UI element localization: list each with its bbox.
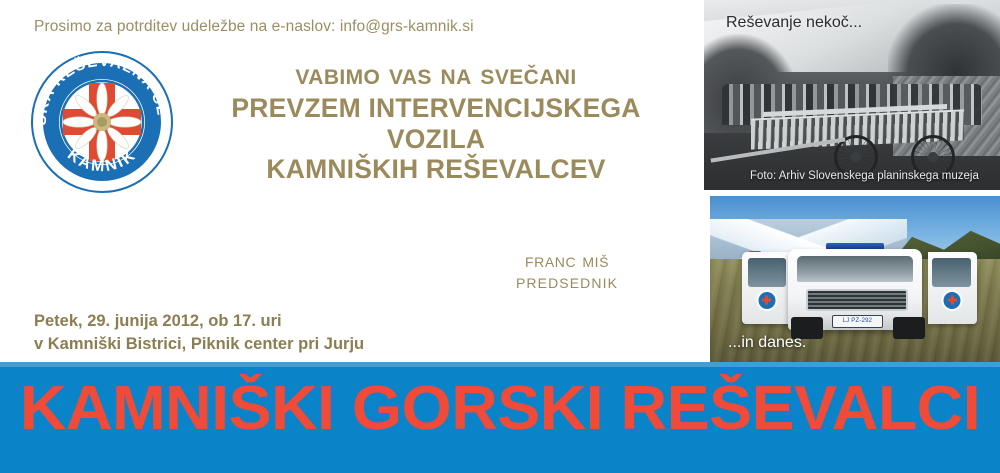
vehicle-grille <box>806 289 909 311</box>
vehicle-wheel <box>893 317 925 339</box>
grs-door-badge-icon <box>942 290 963 311</box>
signature-role: PREDSEDNIK <box>452 275 682 291</box>
grs-door-badge-icon <box>756 290 777 311</box>
historic-photo-credit: Foto: Arhiv Slovenskega planinskega muze… <box>750 170 979 182</box>
vehicle-left-door-window <box>748 258 786 287</box>
grs-kamnik-logo: GORSKA REŠEVALNA SLUŽBA KAMNIK <box>27 47 177 197</box>
signature-block: Franc Miš PREDSEDNIK <box>452 250 682 291</box>
vehicle-right-door <box>928 252 977 323</box>
headline-line-1: Vabimo Vas na Svečani <box>186 58 686 93</box>
invitation-content-area: Prosimo za potrditev udeležbe na e-naslo… <box>0 0 704 362</box>
event-location: v Kamniški Bistrici, Piknik center pri J… <box>34 333 364 356</box>
bottom-banner: KAMNIŠKI GORSKI REŠEVALCI <box>0 362 1000 473</box>
historic-rescue-photo: Reševanje nekoč... Foto: Arhiv Slovenske… <box>704 0 1000 190</box>
rsvp-line: Prosimo za potrditev udeležbe na e-naslo… <box>34 18 474 36</box>
vehicle-license-plate: LJ PZ-292 <box>832 315 883 329</box>
vehicle-left-door <box>742 252 791 323</box>
invitation-poster: Prosimo za potrditev udeležbe na e-naslo… <box>0 0 1000 473</box>
headline-line-2: PREVZEM INTERVENCIJSKEGA <box>186 93 686 124</box>
event-date-time: Petek, 29. junija 2012, ob 17. uri <box>34 310 364 333</box>
license-plate-text: LJ PZ-292 <box>843 318 872 324</box>
event-details: Petek, 29. junija 2012, ob 17. uri v Kam… <box>34 310 364 357</box>
signature-name: Franc Miš <box>452 250 682 273</box>
modern-rescue-vehicle-photo: LJ PZ-292 ...in danes. <box>710 196 1000 362</box>
headline: Vabimo Vas na Svečani PREVZEM INTERVENCI… <box>186 58 686 185</box>
grs-logo-svg: GORSKA REŠEVALNA SLUŽBA KAMNIK <box>27 47 177 197</box>
headline-line-3: VOZILA <box>186 124 686 155</box>
photo-column: Reševanje nekoč... Foto: Arhiv Slovenske… <box>704 0 1000 362</box>
headline-line-4: KAMNIŠKIH REŠEVALCEV <box>186 154 686 185</box>
banner-top-strip <box>0 362 1000 367</box>
vehicle-windshield <box>797 256 913 283</box>
modern-photo-caption: ...in danes. <box>728 334 806 352</box>
banner-title: KAMNIŠKI GORSKI REŠEVALCI <box>0 378 1000 440</box>
historic-photo-caption: Reševanje nekoč... <box>726 14 862 32</box>
vehicle-right-door-window <box>932 258 970 287</box>
